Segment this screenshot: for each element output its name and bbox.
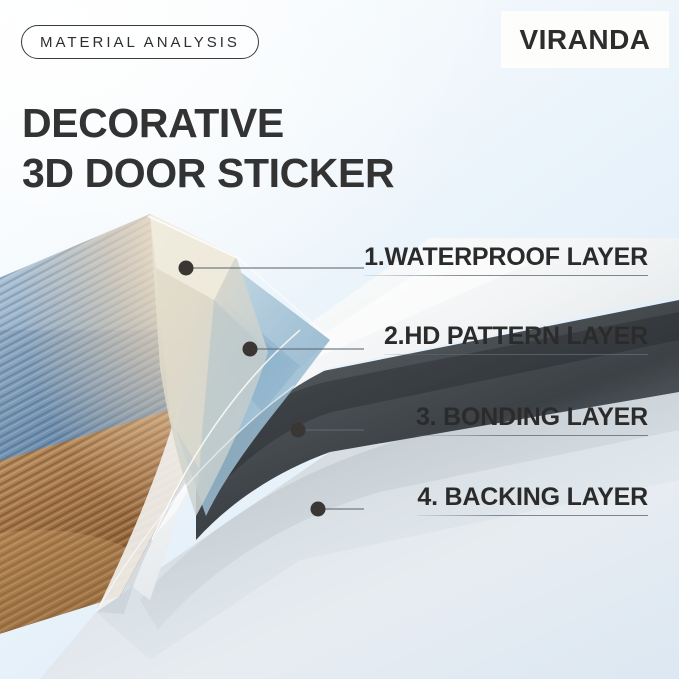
callout-backing-layer: 4. BACKING LAYER <box>417 482 648 516</box>
callout-underline <box>416 435 648 436</box>
callout-underline <box>417 515 648 516</box>
product-infographic: MATERIAL ANALYSIS VIRANDA DECORATIVE 3D … <box>0 0 679 679</box>
callout-underline <box>384 354 648 355</box>
callout-label: 3. BONDING LAYER <box>416 402 648 432</box>
callout-underline <box>364 275 648 276</box>
layer-callouts: 1.WATERPROOF LAYER 2.HD PATTERN LAYER 3.… <box>0 0 679 679</box>
callout-waterproof-layer: 1.WATERPROOF LAYER <box>364 242 648 276</box>
callout-hd-pattern-layer: 2.HD PATTERN LAYER <box>384 321 648 355</box>
callout-bonding-layer: 3. BONDING LAYER <box>416 402 648 436</box>
callout-label: 1.WATERPROOF LAYER <box>364 242 648 272</box>
callout-label: 4. BACKING LAYER <box>417 482 648 512</box>
callout-label: 2.HD PATTERN LAYER <box>384 321 648 351</box>
